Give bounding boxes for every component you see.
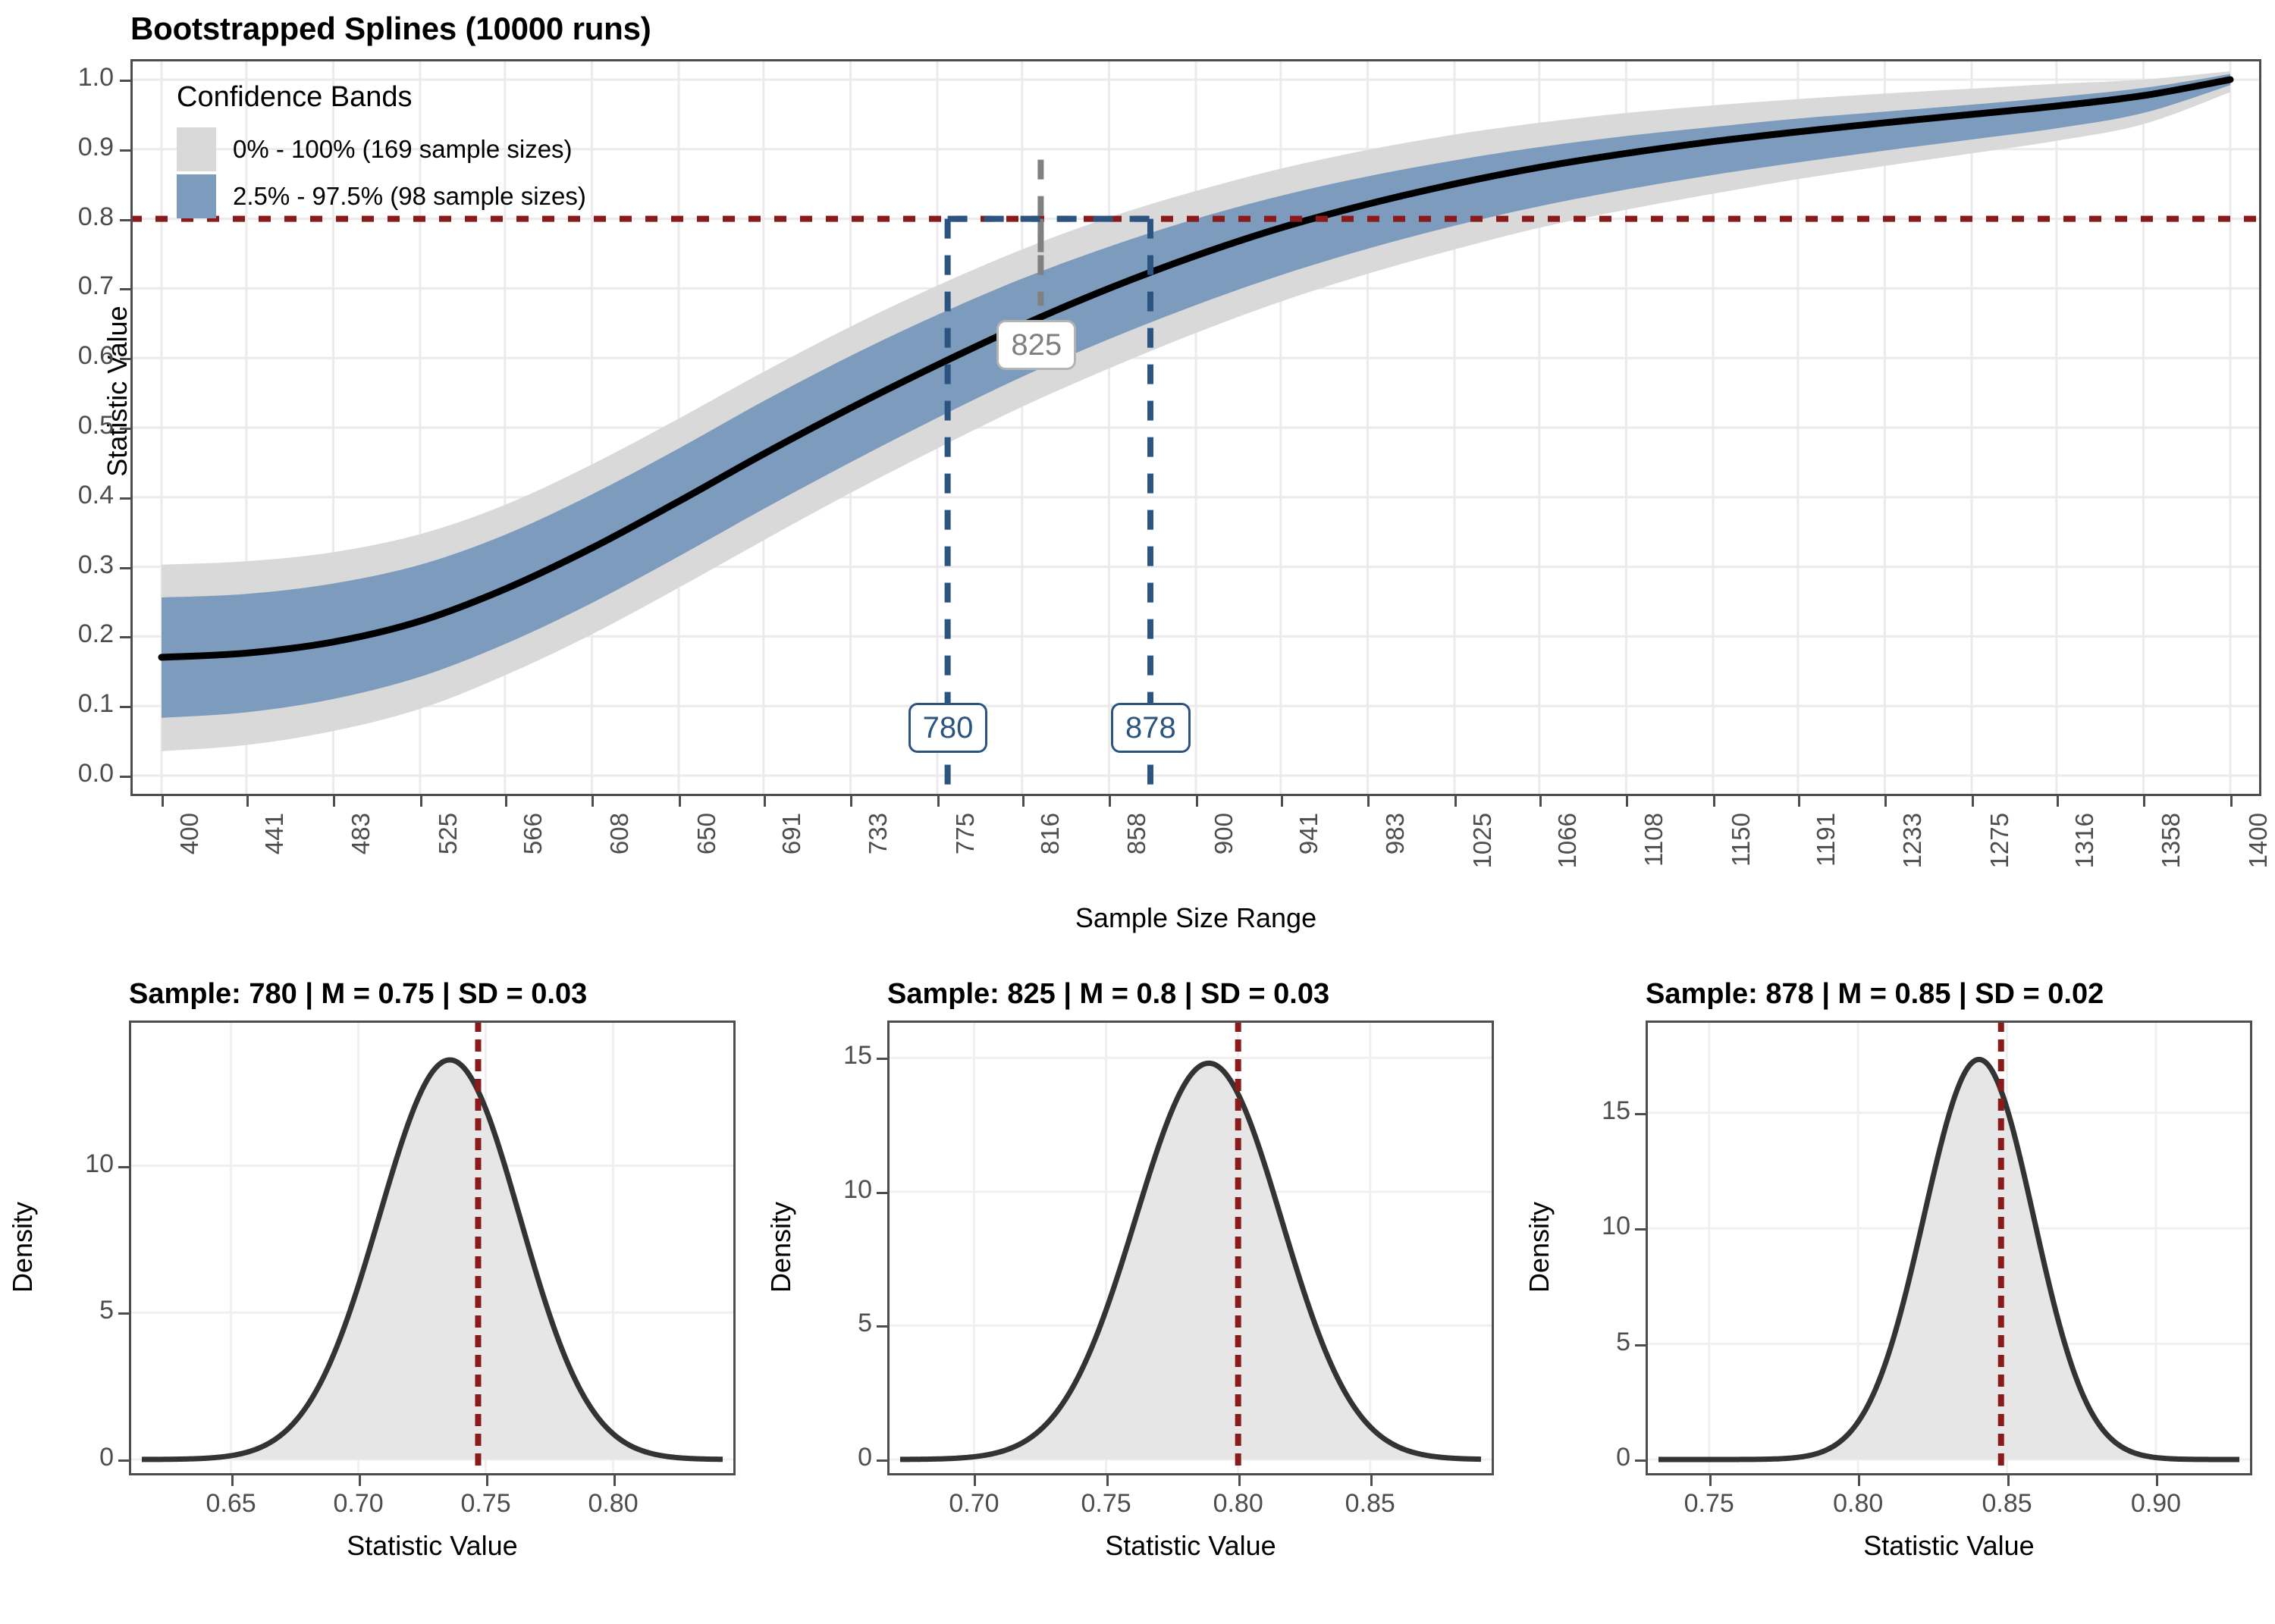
density-x-tick-mark: [486, 1475, 488, 1486]
main-x-tick-mark: [1109, 796, 1111, 807]
density-y-axis-label: Density: [1523, 1133, 1555, 1361]
density-y-tick-label: 0: [1547, 1443, 1630, 1472]
main-y-tick-label: 0.4: [0, 481, 114, 510]
main-x-tick-mark: [162, 796, 164, 807]
density-panel-title: Sample: 780 | M = 0.75 | SD = 0.03: [129, 978, 751, 1011]
main-x-tick-mark: [1884, 796, 1887, 807]
legend: Confidence Bands 0% - 100% (169 sample s…: [177, 81, 586, 220]
target-marker-label[interactable]: 825: [996, 320, 1076, 370]
main-y-tick-label: 0.1: [0, 689, 114, 719]
main-y-tick-mark: [120, 80, 130, 82]
main-x-tick-mark: [937, 796, 940, 807]
main-x-tick-mark: [2057, 796, 2059, 807]
main-x-tick-mark: [1713, 796, 1715, 807]
main-x-tick-mark: [850, 796, 852, 807]
density-panel-825: Sample: 825 | M = 0.8 | SD = 0.03 051015…: [766, 978, 1509, 1607]
main-x-tick-mark: [420, 796, 422, 807]
main-y-tick-mark: [120, 288, 130, 290]
main-y-tick-label: 0.6: [0, 341, 114, 371]
density-y-tick-label: 15: [1547, 1096, 1630, 1126]
legend-swatch-gray: [177, 127, 216, 171]
density-x-tick-mark: [359, 1475, 361, 1486]
density-chart-svg: [890, 1023, 1492, 1473]
density-y-tick-mark: [877, 1325, 887, 1328]
legend-item-ci95[interactable]: 2.5% - 97.5% (98 sample sizes): [177, 173, 586, 220]
main-y-tick-mark: [120, 636, 130, 638]
main-x-tick-mark: [2230, 796, 2233, 807]
density-x-tick-label: 0.70: [298, 1489, 419, 1519]
main-x-tick-mark: [1626, 796, 1628, 807]
density-y-tick-label: 5: [30, 1296, 114, 1325]
main-x-tick-mark: [1022, 796, 1025, 807]
density-x-tick-mark: [2156, 1475, 2158, 1486]
main-y-tick-mark: [120, 428, 130, 430]
density-x-tick-mark: [1858, 1475, 1860, 1486]
density-plot-area: [1646, 1020, 2252, 1475]
density-x-tick-label: 0.80: [1178, 1489, 1299, 1519]
density-y-tick-label: 15: [789, 1041, 872, 1071]
density-y-tick-mark: [877, 1058, 887, 1060]
main-x-tick-mark: [1798, 796, 1800, 807]
density-y-tick-mark: [1635, 1344, 1646, 1347]
main-y-tick-mark: [120, 706, 130, 708]
density-x-tick-label: 0.80: [1797, 1489, 1919, 1519]
density-y-tick-label: 10: [30, 1149, 114, 1179]
density-plot-area: [129, 1020, 736, 1475]
density-y-tick-label: 10: [1547, 1212, 1630, 1241]
density-x-tick-label: 0.80: [553, 1489, 674, 1519]
main-x-axis-label: Sample Size Range: [130, 902, 2261, 934]
main-y-tick-mark: [120, 219, 130, 221]
main-x-tick-mark: [591, 796, 594, 807]
density-x-tick-mark: [1238, 1475, 1241, 1486]
main-y-tick-label: 0.9: [0, 133, 114, 162]
main-x-tick-mark: [1367, 796, 1370, 807]
density-y-axis-label: Density: [765, 1133, 797, 1361]
density-chart-svg: [1648, 1023, 2250, 1473]
main-y-tick-label: 0.8: [0, 202, 114, 232]
density-x-axis-label: Statistic Value: [1646, 1530, 2252, 1562]
density-y-tick-label: 5: [789, 1309, 872, 1338]
density-x-tick-mark: [1709, 1475, 1712, 1486]
main-y-tick-label: 0.0: [0, 759, 114, 788]
figure-root: Bootstrapped Splines (10000 runs) Statis…: [0, 0, 2275, 1624]
legend-label-ci95: 2.5% - 97.5% (98 sample sizes): [233, 182, 586, 211]
density-x-tick-label: 0.65: [171, 1489, 292, 1519]
main-y-tick-mark: [120, 567, 130, 569]
main-x-tick-mark: [1196, 796, 1198, 807]
density-y-tick-mark: [1635, 1459, 1646, 1462]
density-x-tick-mark: [974, 1475, 976, 1486]
density-x-tick-label: 0.85: [1947, 1489, 2068, 1519]
upper-bound-marker-label[interactable]: 878: [1111, 703, 1191, 753]
density-x-axis-label: Statistic Value: [887, 1530, 1494, 1562]
density-y-tick-mark: [877, 1192, 887, 1194]
main-x-tick-mark: [1539, 796, 1542, 807]
main-x-tick-mark: [1281, 796, 1283, 807]
density-x-tick-label: 0.75: [1046, 1489, 1167, 1519]
main-y-tick-label: 0.3: [0, 550, 114, 580]
density-y-tick-mark: [877, 1459, 887, 1462]
main-x-tick-mark: [2143, 796, 2145, 807]
main-x-tick-mark: [764, 796, 766, 807]
density-x-tick-label: 0.90: [2095, 1489, 2217, 1519]
main-y-tick-label: 0.5: [0, 411, 114, 440]
main-y-tick-label: 0.7: [0, 271, 114, 301]
density-y-tick-mark: [118, 1312, 129, 1315]
density-y-tick-mark: [1635, 1228, 1646, 1231]
main-y-axis-label: Statistic Value: [102, 194, 133, 588]
main-x-tick-mark: [505, 796, 507, 807]
density-y-axis-label: Density: [7, 1133, 39, 1361]
legend-title: Confidence Bands: [177, 81, 586, 114]
density-x-tick-label: 0.75: [425, 1489, 547, 1519]
density-chart-svg: [131, 1023, 733, 1473]
density-x-axis-label: Statistic Value: [129, 1530, 736, 1562]
main-y-tick-mark: [120, 776, 130, 778]
main-x-tick-mark: [1454, 796, 1457, 807]
density-panel-title: Sample: 825 | M = 0.8 | SD = 0.03: [887, 978, 1509, 1011]
density-y-tick-mark: [1635, 1113, 1646, 1115]
main-x-tick-mark: [1972, 796, 1974, 807]
density-x-tick-mark: [2007, 1475, 2010, 1486]
lower-bound-marker-label[interactable]: 780: [908, 703, 988, 753]
density-y-tick-label: 0: [30, 1443, 114, 1472]
density-y-tick-mark: [118, 1459, 129, 1462]
page-title: Bootstrapped Splines (10000 runs): [130, 11, 651, 47]
main-y-tick-mark: [120, 497, 130, 500]
density-panel-878: Sample: 878 | M = 0.85 | SD = 0.02 05101…: [1524, 978, 2267, 1607]
legend-label-full-range: 0% - 100% (169 sample sizes): [233, 135, 573, 164]
main-x-tick-mark: [333, 796, 335, 807]
main-x-tick-mark: [246, 796, 249, 807]
density-x-tick-mark: [231, 1475, 234, 1486]
density-x-tick-label: 0.70: [913, 1489, 1034, 1519]
density-x-tick-mark: [1370, 1475, 1373, 1486]
main-y-tick-label: 1.0: [0, 63, 114, 92]
density-y-tick-mark: [118, 1166, 129, 1168]
density-y-tick-label: 0: [789, 1443, 872, 1472]
legend-item-full-range[interactable]: 0% - 100% (169 sample sizes): [177, 126, 586, 173]
legend-swatch-blue: [177, 174, 216, 218]
density-y-tick-label: 5: [1547, 1328, 1630, 1357]
main-y-tick-mark: [120, 358, 130, 360]
density-x-tick-mark: [613, 1475, 616, 1486]
main-y-tick-label: 0.2: [0, 619, 114, 649]
main-y-tick-mark: [120, 149, 130, 152]
density-plot-area: [887, 1020, 1494, 1475]
density-x-tick-mark: [1106, 1475, 1109, 1486]
density-x-tick-label: 0.75: [1649, 1489, 1770, 1519]
main-x-tick-mark: [679, 796, 681, 807]
density-x-tick-label: 0.85: [1310, 1489, 1431, 1519]
density-panel-title: Sample: 878 | M = 0.85 | SD = 0.02: [1646, 978, 2267, 1011]
main-plot-panel: Confidence Bands 0% - 100% (169 sample s…: [130, 59, 2261, 796]
density-y-tick-label: 10: [789, 1175, 872, 1205]
density-panel-780: Sample: 780 | M = 0.75 | SD = 0.03 05100…: [8, 978, 751, 1607]
